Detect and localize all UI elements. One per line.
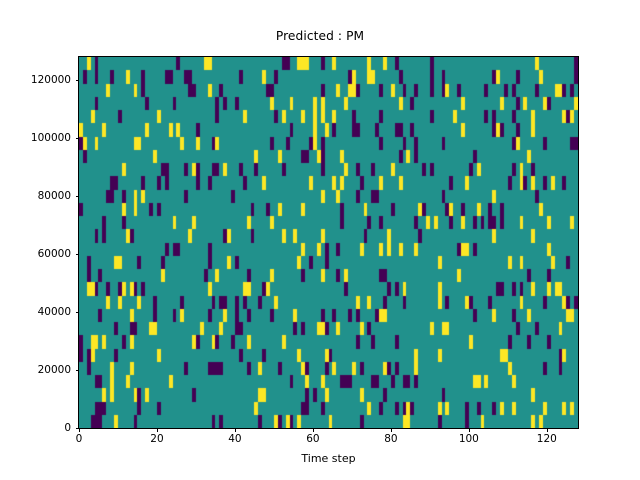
y-tick-label: 0 bbox=[7, 422, 71, 434]
heatmap-image bbox=[79, 57, 578, 428]
y-tick-label: 120000 bbox=[7, 74, 71, 86]
matplotlib-figure: Predicted : PM Frequency (Hz) 0200004000… bbox=[0, 0, 640, 480]
chart-title: Predicted : PM bbox=[0, 29, 640, 43]
x-tick-label: 80 bbox=[384, 433, 397, 445]
x-tick-label: 100 bbox=[459, 433, 479, 445]
y-tick-label: 60000 bbox=[7, 248, 71, 260]
y-tick-label: 80000 bbox=[7, 190, 71, 202]
y-tick-label: 40000 bbox=[7, 306, 71, 318]
x-tick-label: 60 bbox=[306, 433, 319, 445]
y-tick-label: 100000 bbox=[7, 132, 71, 144]
x-tick-label: 40 bbox=[228, 433, 241, 445]
y-tick-label: 20000 bbox=[7, 364, 71, 376]
x-tick-label: 20 bbox=[150, 433, 163, 445]
heatmap-axes bbox=[78, 56, 579, 429]
x-axis-label: Time step bbox=[79, 452, 578, 465]
x-tick-label: 0 bbox=[76, 433, 83, 445]
x-tick-label: 120 bbox=[537, 433, 557, 445]
